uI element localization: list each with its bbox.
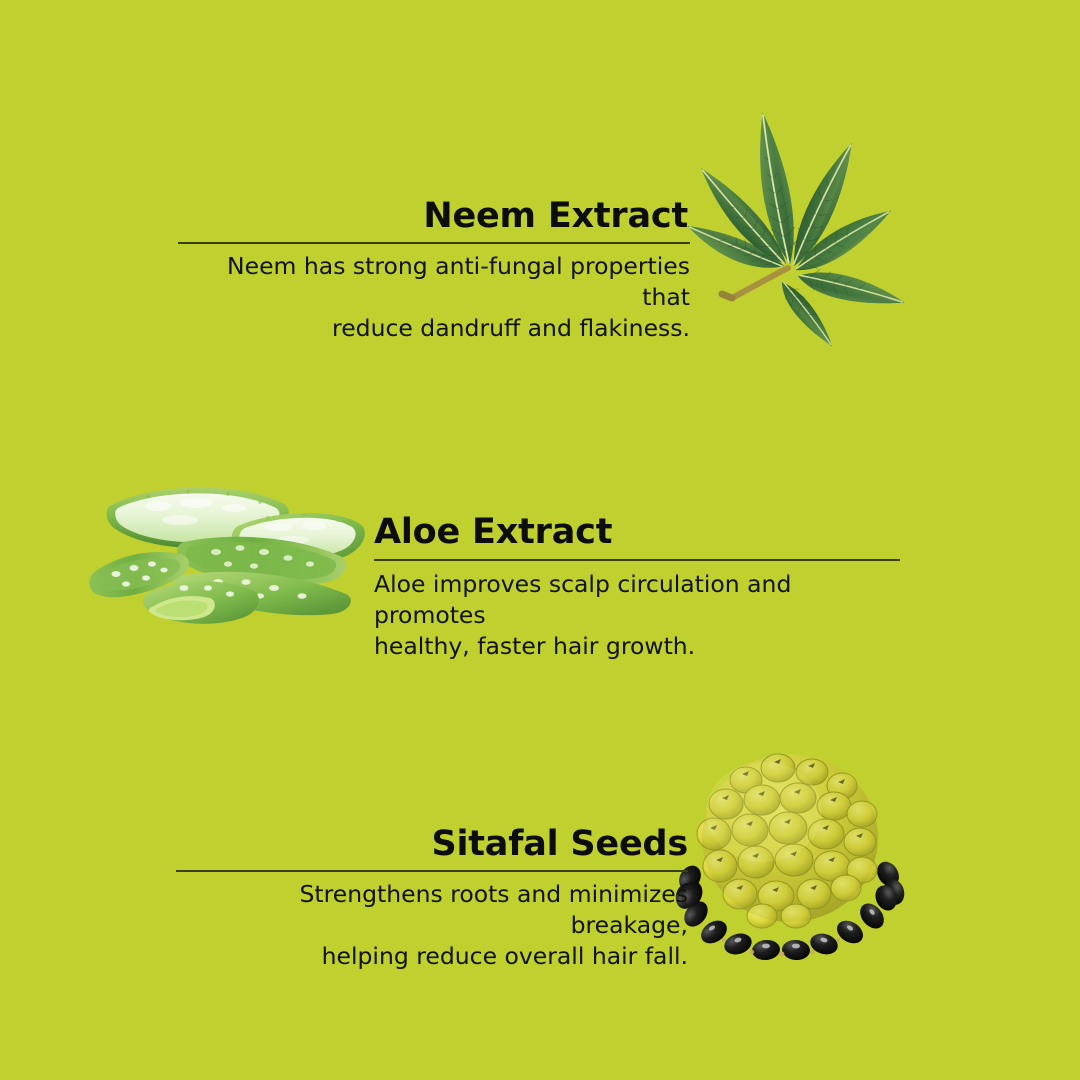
aloe-divider xyxy=(374,559,900,561)
sitafal-description-line-1: Strengthens roots and minimizes breakage… xyxy=(299,880,688,939)
aloe-description-line-1: Aloe improves scalp circulation and prom… xyxy=(374,570,791,629)
aloe-description: Aloe improves scalp circulation and prom… xyxy=(374,569,900,662)
sitafal-divider xyxy=(176,870,688,872)
neem-divider xyxy=(178,242,690,244)
sitafal-custard-apple-with-seeds-illustration xyxy=(666,742,914,968)
aloe-heading: Aloe Extract xyxy=(374,512,900,552)
neem-description-line-2: reduce dandruff and flakiness. xyxy=(332,314,690,342)
section-aloe: Aloe Extract Aloe improves scalp circula… xyxy=(374,512,900,662)
aloe-description-line-2: healthy, faster hair growth. xyxy=(374,632,695,660)
sitafal-heading: Sitafal Seeds xyxy=(176,824,688,864)
neem-leaves-illustration xyxy=(662,96,934,354)
neem-description-line-1: Neem has strong anti-fungal properties t… xyxy=(227,252,690,311)
sitafal-description: Strengthens roots and minimizes breakage… xyxy=(176,879,688,972)
neem-heading: Neem Extract xyxy=(178,196,690,236)
aloe-vera-slices-illustration xyxy=(88,470,378,638)
neem-description: Neem has strong anti-fungal properties t… xyxy=(178,251,690,344)
custard-apple-body xyxy=(697,754,878,928)
sitafal-description-line-2: helping reduce overall hair fall. xyxy=(322,942,688,970)
section-neem: Neem Extract Neem has strong anti-fungal… xyxy=(178,196,690,344)
section-sitafal: Sitafal Seeds Strengthens roots and mini… xyxy=(176,824,688,972)
ingredient-benefits-panel: Neem Extract Neem has strong anti-fungal… xyxy=(0,0,1080,1080)
